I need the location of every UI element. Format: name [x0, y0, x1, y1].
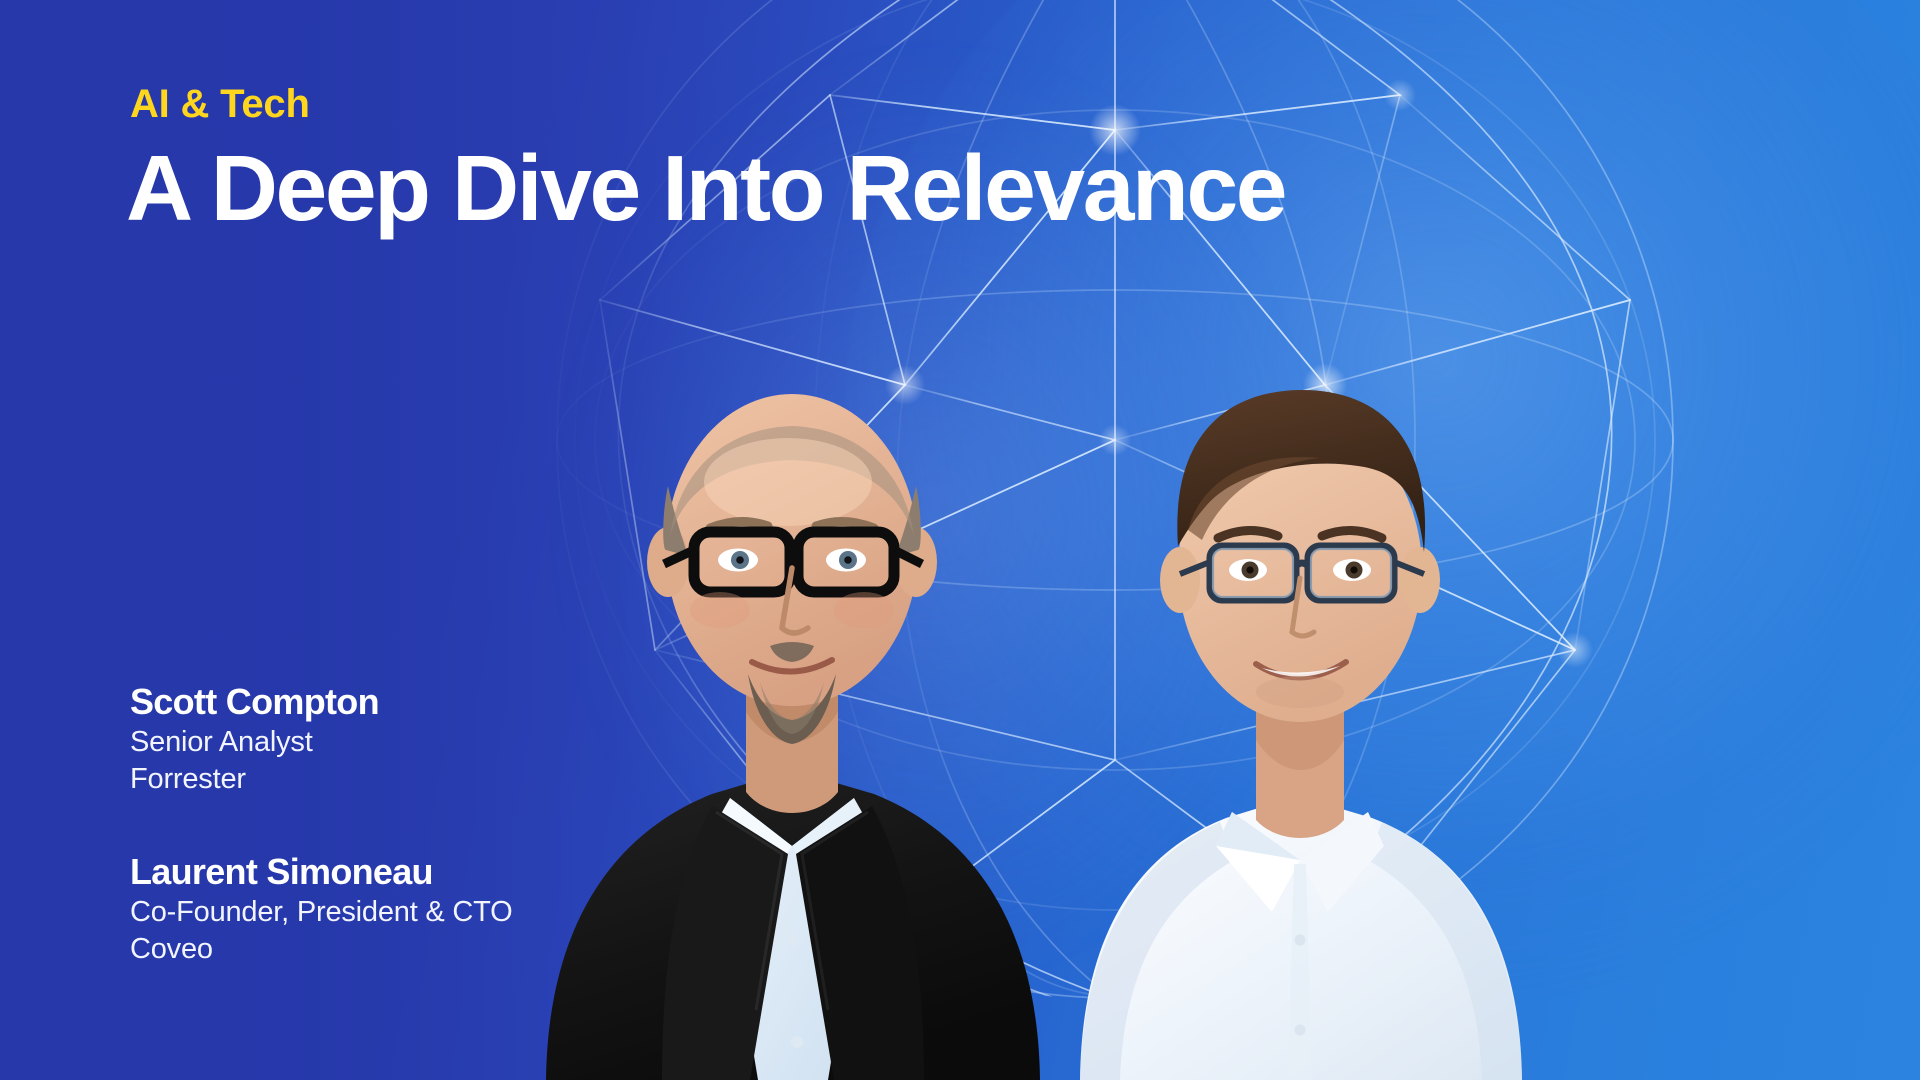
speaker-organization: Coveo: [130, 931, 650, 968]
speaker-entry: Laurent Simoneau Co-Founder, President &…: [130, 850, 650, 968]
speaker-name: Scott Compton: [130, 680, 650, 724]
speaker-name: Laurent Simoneau: [130, 850, 650, 894]
speaker-entry: Scott Compton Senior Analyst Forrester: [130, 680, 650, 798]
speaker-role: Co-Founder, President & CTO: [130, 894, 650, 931]
webinar-promo-banner: AI & Tech A Deep Dive Into Relevance Sco…: [0, 0, 1920, 1080]
speaker-role: Senior Analyst: [130, 724, 650, 761]
speaker-list: Scott Compton Senior Analyst Forrester L…: [130, 680, 650, 968]
speaker-organization: Forrester: [130, 761, 650, 798]
eyebrow-label: AI & Tech: [130, 82, 310, 127]
portrait-laurent-simoneau: [1020, 240, 1580, 1080]
page-title: A Deep Dive Into Relevance: [126, 138, 1285, 238]
